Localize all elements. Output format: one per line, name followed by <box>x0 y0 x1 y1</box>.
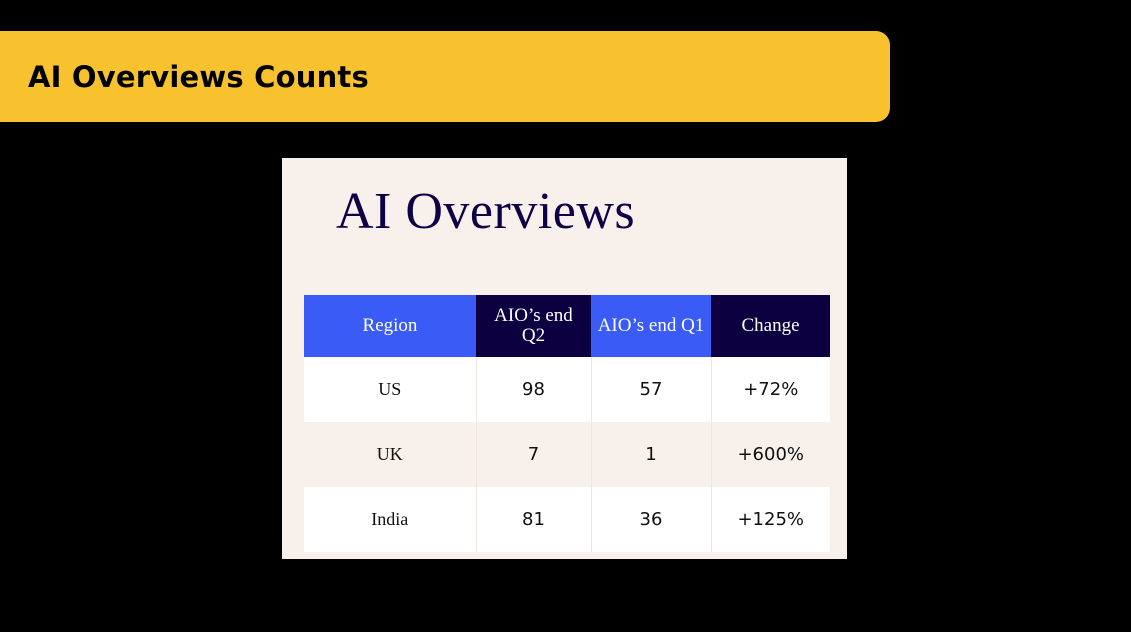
banner-title: AI Overviews Counts <box>28 60 369 94</box>
card-title: AI Overviews <box>336 182 635 241</box>
content-card: AI Overviews Region AIO’s end Q2 AIO’s e… <box>282 158 847 559</box>
header-banner: AI Overviews Counts <box>0 31 890 122</box>
table-row: US 98 57 +72% <box>304 357 830 422</box>
column-header-aio-end-q2: AIO’s end Q2 <box>476 295 591 357</box>
table-body: US 98 57 +72% UK 7 1 +600% India 81 <box>304 357 830 552</box>
slide-canvas: AI Overviews Counts AI Overviews Region … <box>0 0 1131 632</box>
cell-aio-q1: 57 <box>591 357 711 422</box>
cell-aio-q2: 7 <box>476 422 591 487</box>
cell-region: US <box>304 357 476 422</box>
aio-table-container: Region AIO’s end Q2 AIO’s end Q1 Change … <box>304 295 830 552</box>
cell-change: +72% <box>711 357 830 422</box>
aio-counts-table: Region AIO’s end Q2 AIO’s end Q1 Change … <box>304 295 830 552</box>
table-header: Region AIO’s end Q2 AIO’s end Q1 Change <box>304 295 830 357</box>
table-row: India 81 36 +125% <box>304 487 830 552</box>
cell-aio-q1: 36 <box>591 487 711 552</box>
cell-region: India <box>304 487 476 552</box>
column-header-aio-end-q1: AIO’s end Q1 <box>591 295 711 357</box>
cell-change: +125% <box>711 487 830 552</box>
table-row: UK 7 1 +600% <box>304 422 830 487</box>
cell-aio-q2: 81 <box>476 487 591 552</box>
cell-aio-q1: 1 <box>591 422 711 487</box>
column-header-change: Change <box>711 295 830 357</box>
cell-aio-q2: 98 <box>476 357 591 422</box>
table-header-row: Region AIO’s end Q2 AIO’s end Q1 Change <box>304 295 830 357</box>
cell-region: UK <box>304 422 476 487</box>
cell-change: +600% <box>711 422 830 487</box>
column-header-region: Region <box>304 295 476 357</box>
